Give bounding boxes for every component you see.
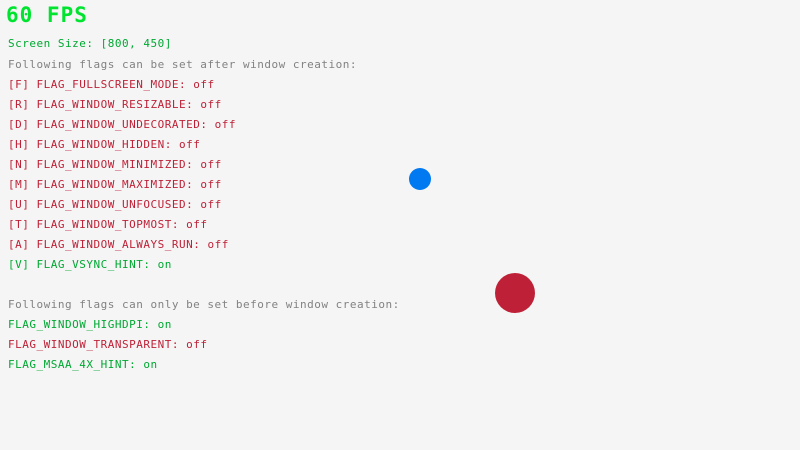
flag-key: [R] [8, 98, 37, 111]
runtime-flag-row[interactable]: [N] FLAG_WINDOW_MINIMIZED: off [8, 159, 222, 171]
runtime-flag-row[interactable]: [R] FLAG_WINDOW_RESIZABLE: off [8, 99, 222, 111]
flag-name: FLAG_WINDOW_MINIMIZED: [37, 158, 201, 171]
flag-value: off [200, 198, 221, 211]
runtime-flag-row[interactable]: [H] FLAG_WINDOW_HIDDEN: off [8, 139, 200, 151]
flag-name: FLAG_WINDOW_ALWAYS_RUN: [37, 238, 208, 251]
flag-key: [U] [8, 198, 37, 211]
flag-key: [A] [8, 238, 37, 251]
flag-key: [M] [8, 178, 37, 191]
runtime-flag-row[interactable]: [T] FLAG_WINDOW_TOPMOST: off [8, 219, 207, 231]
creation-flag-row: FLAG_WINDOW_TRANSPARENT: off [8, 339, 207, 351]
runtime-flag-row[interactable]: [U] FLAG_WINDOW_UNFOCUSED: off [8, 199, 222, 211]
raylib-window: 60 FPS Screen Size: [800, 450] Following… [0, 0, 800, 450]
blue-circle [409, 168, 431, 190]
runtime-flag-row[interactable]: [M] FLAG_WINDOW_MAXIMIZED: off [8, 179, 222, 191]
flag-key: [F] [8, 78, 37, 91]
flag-value: off [207, 238, 228, 251]
flag-value: off [186, 338, 207, 351]
flag-name: FLAG_MSAA_4X_HINT: [8, 358, 143, 371]
flag-value: on [158, 318, 172, 331]
flag-value: off [179, 138, 200, 151]
flag-name: FLAG_WINDOW_TRANSPARENT: [8, 338, 186, 351]
runtime-flag-row[interactable]: [A] FLAG_WINDOW_ALWAYS_RUN: off [8, 239, 229, 251]
flag-name: FLAG_FULLSCREEN_MODE: [37, 78, 194, 91]
flag-name: FLAG_WINDOW_UNFOCUSED: [37, 198, 201, 211]
flag-name: FLAG_WINDOW_TOPMOST: [37, 218, 187, 231]
flag-name: FLAG_WINDOW_UNDECORATED: [37, 118, 215, 131]
flag-key: [D] [8, 118, 37, 131]
runtime-flag-row[interactable]: [F] FLAG_FULLSCREEN_MODE: off [8, 79, 215, 91]
flag-value: on [143, 358, 157, 371]
maroon-circle [495, 273, 535, 313]
fps-counter: 60 FPS [6, 5, 88, 26]
flag-value: off [200, 158, 221, 171]
flag-value: off [186, 218, 207, 231]
flag-value: off [200, 98, 221, 111]
flag-name: FLAG_VSYNC_HINT: [37, 258, 158, 271]
flag-value: on [158, 258, 172, 271]
flag-key: [H] [8, 138, 37, 151]
flag-key: [N] [8, 158, 37, 171]
flag-name: FLAG_WINDOW_HIDDEN: [37, 138, 179, 151]
flag-value: off [193, 78, 214, 91]
runtime-flags-header: Following flags can be set after window … [8, 59, 357, 71]
creation-flag-row: FLAG_WINDOW_HIGHDPI: on [8, 319, 172, 331]
creation-flags-header: Following flags can only be set before w… [8, 299, 400, 311]
flag-name: FLAG_WINDOW_MAXIMIZED: [37, 178, 201, 191]
flag-value: off [215, 118, 236, 131]
runtime-flag-row[interactable]: [D] FLAG_WINDOW_UNDECORATED: off [8, 119, 236, 131]
flag-name: FLAG_WINDOW_RESIZABLE: [37, 98, 201, 111]
runtime-flag-row[interactable]: [V] FLAG_VSYNC_HINT: on [8, 259, 172, 271]
flag-value: off [200, 178, 221, 191]
creation-flag-row: FLAG_MSAA_4X_HINT: on [8, 359, 158, 371]
flag-key: [V] [8, 258, 37, 271]
flag-name: FLAG_WINDOW_HIGHDPI: [8, 318, 158, 331]
flag-key: [T] [8, 218, 37, 231]
screen-size-label: Screen Size: [800, 450] [8, 38, 172, 50]
